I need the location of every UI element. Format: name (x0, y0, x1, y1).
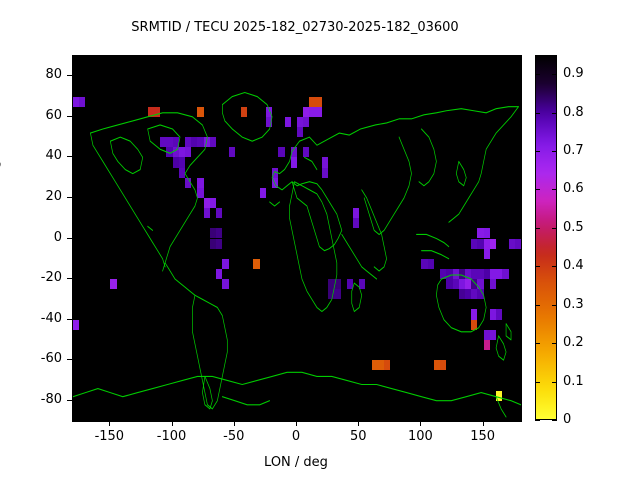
y-axis-tick (67, 75, 72, 76)
y-axis-tick-label: -40 (28, 312, 62, 325)
y-axis-tick-label: -80 (28, 393, 62, 406)
x-axis-tick-label: 150 (453, 430, 513, 443)
colorbar-tick-label: 0.1 (563, 375, 607, 388)
x-axis-tick-label: 0 (266, 430, 326, 443)
x-axis-tick (358, 421, 359, 426)
colorbar-tick (552, 382, 557, 383)
colorbar[interactable]: 0.90.80.70.60.50.40.30.20.10 (535, 55, 557, 420)
x-axis-tick-label: -150 (79, 430, 139, 443)
y-axis-label: LAT / deg (0, 160, 2, 221)
colorbar-tick (535, 74, 540, 75)
colorbar-tick-label: 0.5 (563, 221, 607, 234)
x-axis-tick-label: -100 (142, 430, 202, 443)
colorbar-tick (535, 151, 540, 152)
colorbar-tick (552, 343, 557, 344)
colorbar-tick (535, 189, 540, 190)
x-axis-tick (234, 421, 235, 426)
colorbar-tick (535, 343, 540, 344)
y-axis-tick-label: 40 (28, 149, 62, 162)
y-axis-tick (67, 400, 72, 401)
colorbar-tick (552, 189, 557, 190)
colorbar-gradient (535, 55, 557, 420)
x-axis-tick-label: -50 (204, 430, 264, 443)
x-axis-tick (420, 421, 421, 426)
y-axis-tick (67, 359, 72, 360)
y-axis-tick (67, 319, 72, 320)
colorbar-tick (535, 228, 540, 229)
colorbar-tick (552, 305, 557, 306)
x-axis-tick (483, 421, 484, 426)
x-axis-tick (296, 421, 297, 426)
colorbar-tick-label: 0.7 (563, 144, 607, 157)
y-axis-tick (67, 156, 72, 157)
colorbar-tick (535, 420, 540, 421)
map-heatmap-plot-area[interactable] (72, 55, 522, 422)
page-title: SRMTID / TECU 2025-182_02730-2025-182_03… (0, 20, 590, 35)
y-axis-tick-label: 20 (28, 190, 62, 203)
y-axis-tick-label: 80 (28, 68, 62, 81)
y-axis-tick (67, 197, 72, 198)
y-axis-tick (67, 116, 72, 117)
colorbar-tick (535, 266, 540, 267)
coastline-overlay (73, 56, 521, 421)
colorbar-tick-label: 0.9 (563, 67, 607, 80)
y-axis-tick (67, 238, 72, 239)
colorbar-tick-label: 0.2 (563, 336, 607, 349)
y-axis-tick (67, 278, 72, 279)
x-axis-tick-label: 100 (390, 430, 450, 443)
colorbar-tick (552, 228, 557, 229)
colorbar-tick (535, 305, 540, 306)
colorbar-tick (552, 266, 557, 267)
colorbar-tick (535, 113, 540, 114)
y-axis-tick-label: 60 (28, 109, 62, 122)
plot-canvas: SRMTID / TECU 2025-182_02730-2025-182_03… (0, 0, 640, 480)
colorbar-tick (552, 151, 557, 152)
colorbar-tick (535, 382, 540, 383)
colorbar-tick-label: 0.3 (563, 298, 607, 311)
y-axis-tick-label: -60 (28, 352, 62, 365)
y-axis-tick-label: -20 (28, 271, 62, 284)
x-axis-tick (172, 421, 173, 426)
colorbar-tick (552, 113, 557, 114)
colorbar-tick-label: 0 (563, 413, 607, 426)
x-axis-label: LON / deg (72, 455, 520, 470)
colorbar-tick-label: 0.4 (563, 259, 607, 272)
colorbar-tick-label: 0.6 (563, 182, 607, 195)
colorbar-tick (552, 74, 557, 75)
x-axis-tick (109, 421, 110, 426)
colorbar-tick (552, 420, 557, 421)
y-axis-tick-label: 0 (28, 231, 62, 244)
colorbar-tick-label: 0.8 (563, 106, 607, 119)
x-axis-tick-label: 50 (328, 430, 388, 443)
